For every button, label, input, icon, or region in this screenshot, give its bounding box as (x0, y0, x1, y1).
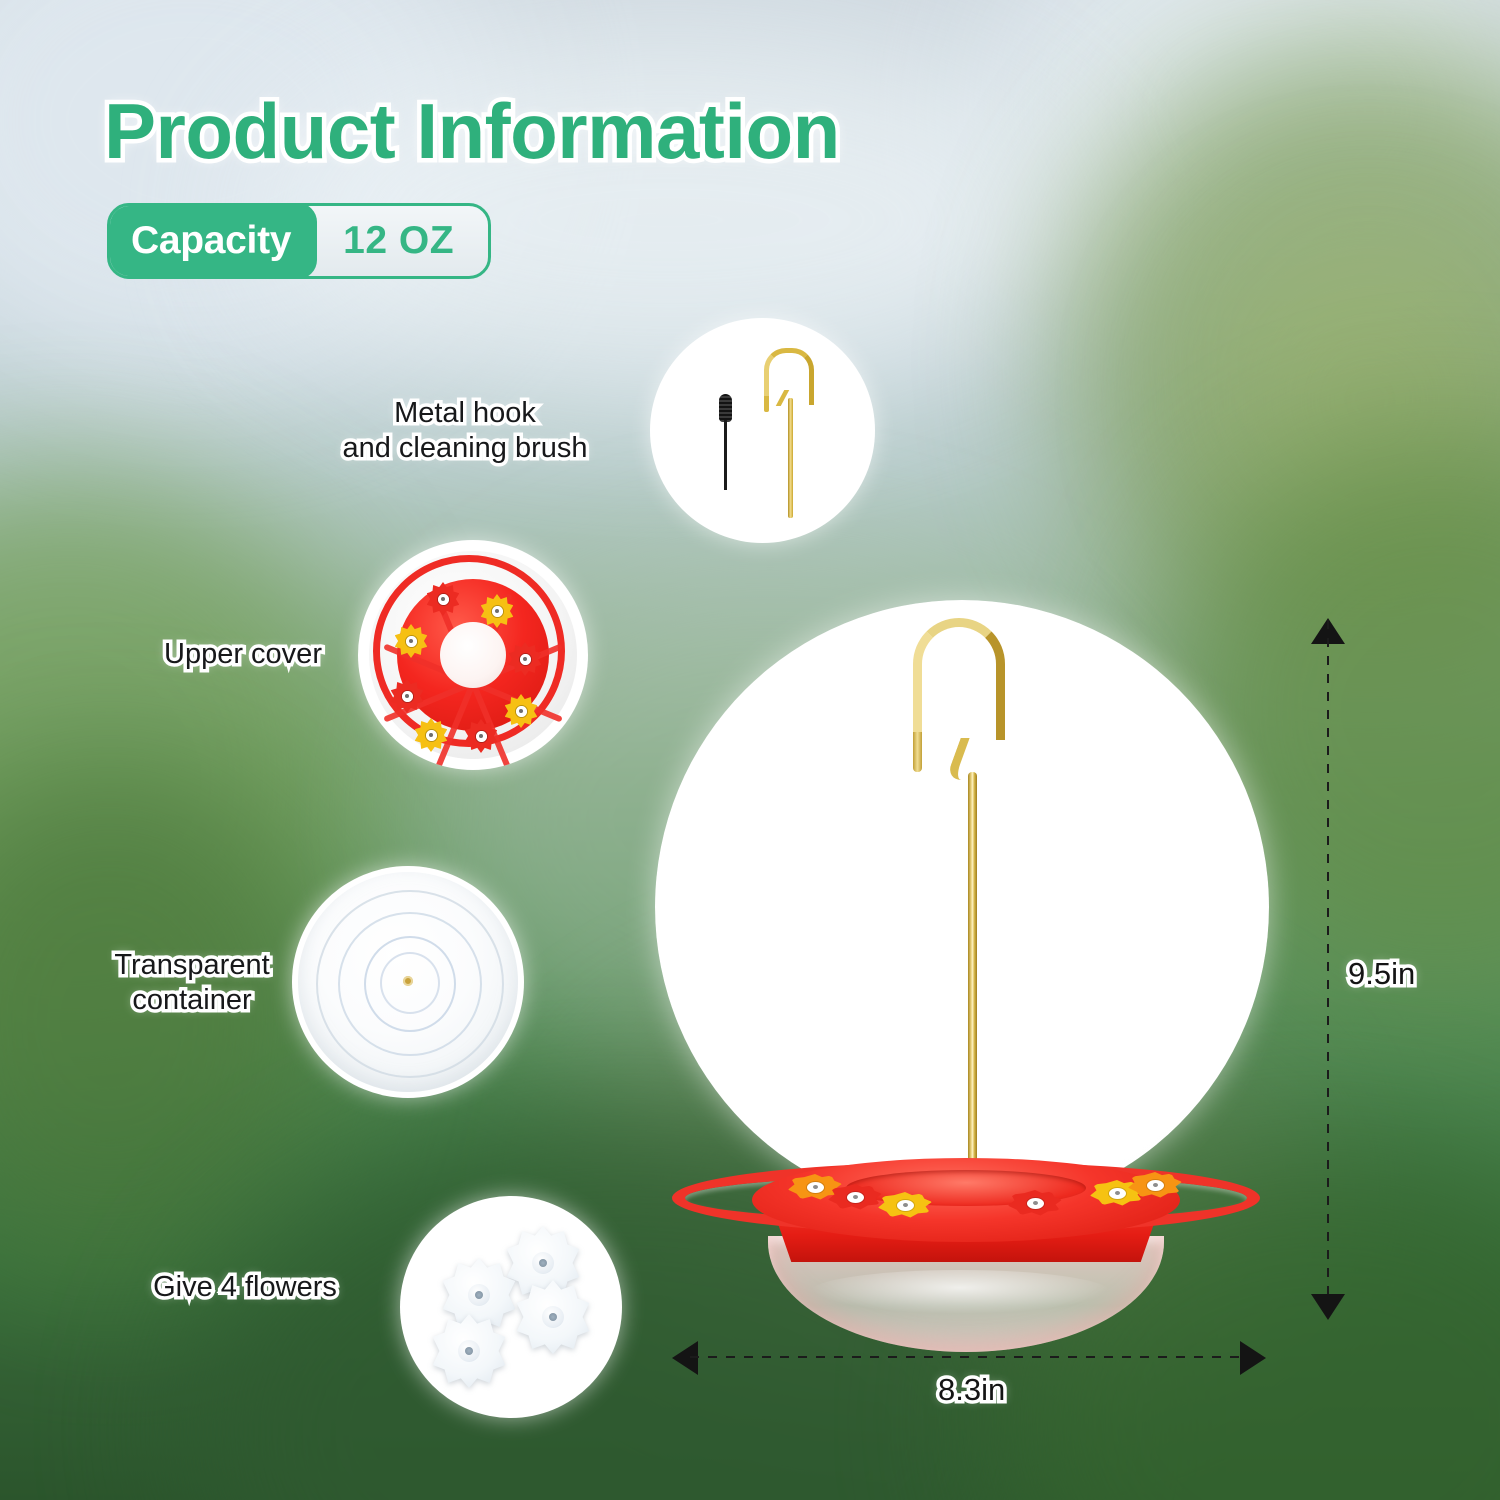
main-hook-curve (913, 618, 1005, 740)
height-dimension-line (1327, 620, 1329, 1322)
brush-bristles (719, 394, 732, 422)
cleaning-brush-icon (718, 394, 732, 490)
feeder-bowl-highlight (810, 1270, 1110, 1314)
capacity-value: 12 OZ (317, 206, 488, 276)
spare-flower-port (432, 1314, 506, 1388)
callout-label-upper-cover: Upper cover (128, 637, 358, 672)
callout-label-give-4-flowers: Give 4 flowers (120, 1270, 370, 1305)
photo-transparent-container (292, 866, 524, 1098)
container-center-hole (403, 976, 413, 986)
main-hook-stem (968, 772, 977, 1172)
capacity-badge: Capacity 12 OZ (107, 203, 491, 279)
product-infographic: Product Information Capacity 12 OZ Metal… (0, 0, 1500, 1500)
cover-flower-port (480, 594, 514, 628)
spare-flower-port (516, 1280, 590, 1354)
cover-flower-port (504, 694, 538, 728)
cover-flower-port (426, 582, 460, 616)
main-feeder-body (660, 1140, 1272, 1350)
feeder-flower-port (1008, 1190, 1062, 1216)
photo-metal-hook-and-brush (650, 318, 875, 543)
cover-flower-port (508, 642, 542, 676)
cover-flower-port (464, 719, 498, 753)
capacity-label: Capacity (107, 203, 317, 279)
width-dimension-line (690, 1356, 1244, 1358)
photo-upper-cover (358, 540, 588, 770)
metal-hook-icon (758, 346, 814, 518)
container-art (298, 872, 518, 1092)
brush-handle (724, 420, 727, 490)
cover-center-hole (440, 622, 506, 688)
arrow-left-icon (672, 1341, 698, 1375)
feeder-flower-port (828, 1184, 882, 1210)
cover-flower-port (414, 718, 448, 752)
arrow-right-icon (1240, 1341, 1266, 1375)
main-hook-tip (913, 732, 922, 772)
arrow-down-icon (1311, 1294, 1345, 1320)
width-dimension-label: 8.3in (938, 1372, 1005, 1408)
main-hanging-hook (905, 612, 1035, 1172)
callout-label-transparent-container: Transparent container (62, 948, 322, 1019)
callout-label-metal-hook: Metal hook and cleaning brush (300, 396, 630, 467)
photo-spare-flowers (400, 1196, 622, 1418)
feeder-flower-port (878, 1192, 932, 1218)
upper-cover-art (369, 551, 577, 759)
height-dimension-label: 9.5in (1348, 956, 1415, 992)
page-title: Product Information (104, 92, 840, 170)
cover-flower-port (394, 624, 428, 658)
feeder-flower-port (1128, 1172, 1182, 1198)
hook-stem (788, 398, 793, 518)
cover-flower-port (390, 679, 424, 713)
hook-tip (764, 396, 769, 412)
